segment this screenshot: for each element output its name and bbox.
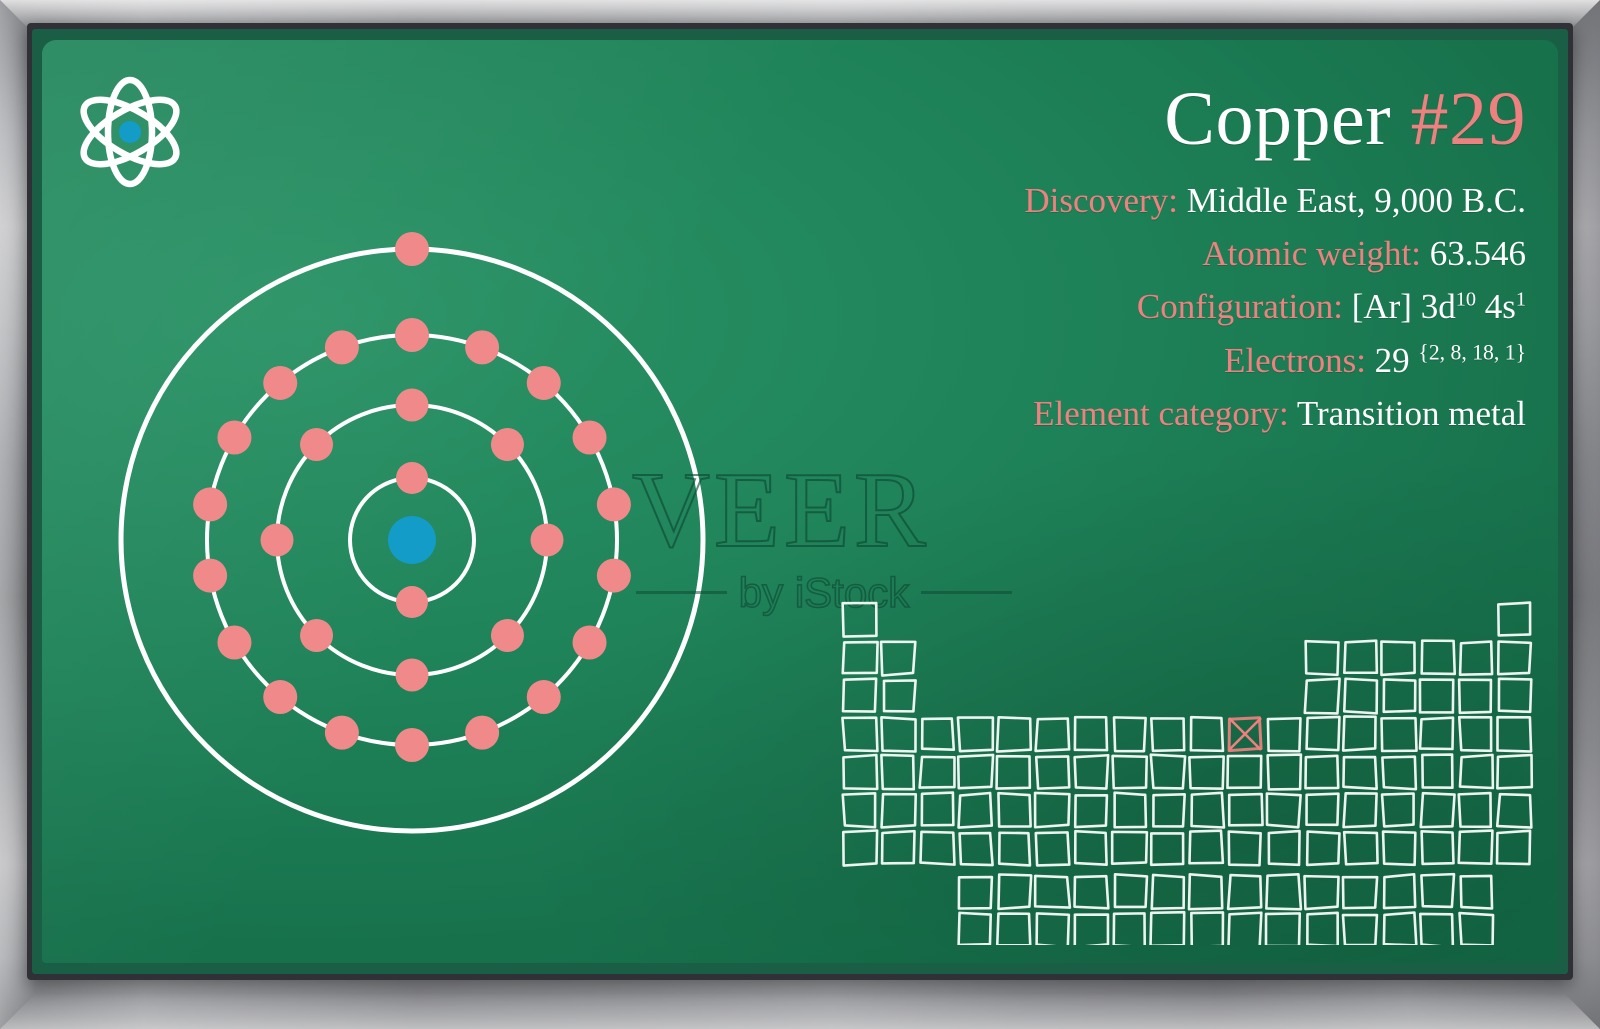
electron-shell3-12 [263, 680, 297, 714]
periodic-cell [1269, 831, 1300, 865]
periodic-cell [1192, 793, 1224, 828]
periodic-cell [842, 718, 877, 751]
periodic-cell-inner-series [1384, 913, 1416, 945]
electrons-shell-set: {2, 8, 18, 1} [1418, 340, 1526, 364]
periodic-cell-inner-series [1266, 913, 1300, 945]
electron-shell3-13 [217, 626, 251, 660]
periodic-cell-inner-series [997, 914, 1030, 945]
electron-shell2-8 [300, 428, 333, 461]
periodic-cell [1459, 793, 1491, 827]
electron-shell2-1 [396, 389, 429, 422]
periodic-cell [1151, 755, 1185, 789]
periodic-cell-inner-series [959, 877, 992, 908]
periodic-cell [1113, 756, 1147, 788]
periodic-cell [1151, 833, 1183, 864]
periodic-cell [1115, 793, 1146, 828]
periodic-cell [958, 755, 993, 788]
periodic-cell [1307, 832, 1339, 865]
electron-shell3-11 [325, 716, 359, 750]
periodic-cell [1268, 755, 1301, 790]
atomic-weight-value: 63.546 [1430, 234, 1526, 273]
periodic-cell [1305, 756, 1338, 788]
periodic-cell [1075, 755, 1109, 788]
periodic-cell [1075, 795, 1107, 827]
periodic-cell [1344, 793, 1377, 827]
periodic-cell [1112, 832, 1147, 864]
discovery-value: Middle East, 9,000 B.C. [1187, 181, 1526, 220]
periodic-cell [1267, 794, 1301, 828]
category-value: Transition metal [1297, 394, 1526, 433]
periodic-cell [1383, 832, 1415, 865]
periodic-cell [958, 718, 993, 752]
periodic-cell [1307, 717, 1340, 750]
electron-shell3-1 [395, 318, 429, 352]
info-row-discovery: Discovery: Middle East, 9,000 B.C. [786, 174, 1526, 227]
electron-shell2-6 [300, 619, 333, 652]
periodic-cell [1344, 679, 1377, 714]
periodic-cell [1344, 641, 1377, 673]
periodic-cell [1189, 757, 1223, 789]
periodic-cell [1459, 717, 1491, 751]
element-name: Copper [1164, 77, 1391, 161]
atom-nucleus [388, 516, 436, 564]
electron-dots [193, 232, 631, 762]
periodic-cell [998, 793, 1030, 826]
configuration-label: Configuration: [1137, 287, 1343, 326]
category-label: Element category: [1033, 394, 1289, 433]
periodic-cell [1227, 756, 1261, 788]
info-row-category: Element category: Transition metal [786, 387, 1526, 440]
periodic-cell [1382, 793, 1414, 826]
periodic-cell [1036, 718, 1070, 750]
periodic-cell-inner-series [1266, 874, 1301, 909]
infographic-canvas: VEER by iStock Copper #29 Discovery: Mid… [0, 0, 1600, 1029]
periodic-cell-inner-series [1421, 874, 1454, 907]
periodic-cell [881, 755, 913, 789]
page-title: Copper #29 [786, 78, 1526, 160]
periodic-cell [1343, 757, 1376, 789]
periodic-cell [1035, 793, 1069, 827]
periodic-cell-inner-series [1152, 875, 1184, 909]
periodic-cell [1460, 642, 1492, 675]
watermark-rule-right [921, 591, 1012, 594]
periodic-cell [1499, 679, 1531, 712]
electron-shell3-14 [193, 559, 227, 593]
periodic-cell [1307, 794, 1339, 825]
periodic-cell [1381, 642, 1414, 675]
periodic-cell [1420, 718, 1453, 749]
periodic-cell [1191, 717, 1223, 751]
periodic-cell-inner-series [1037, 913, 1069, 945]
periodic-cell [843, 603, 877, 637]
periodic-cell-inner-series [1384, 874, 1415, 908]
periodic-cell-inner-series [1307, 913, 1337, 945]
electron-shell3-15 [193, 487, 227, 521]
periodic-cell [1075, 831, 1106, 865]
periodic-cell [1382, 757, 1416, 790]
electron-shell3-18 [325, 330, 359, 364]
periodic-cell [843, 793, 875, 827]
periodic-table-minimap [840, 600, 1552, 945]
periodic-cell-inner-series [1420, 914, 1453, 945]
electron-shell2-4 [491, 619, 524, 652]
electron-shell4-1 [395, 232, 429, 266]
periodic-cell [1036, 756, 1069, 788]
configuration-sup-2: 1 [1516, 289, 1526, 311]
periodic-cell [881, 717, 915, 751]
electron-shell3-5 [597, 487, 631, 521]
periodic-cell [843, 831, 877, 866]
periodic-cell [1384, 679, 1416, 711]
electrons-label: Electrons: [1224, 341, 1366, 380]
bohr-model-diagram [102, 230, 722, 850]
electron-shell1-1 [396, 462, 428, 494]
periodic-cell-inner-series [1075, 876, 1109, 908]
atomic-weight-label: Atomic weight: [1202, 234, 1421, 273]
element-info-panel: Copper #29 Discovery: Middle East, 9,000… [786, 78, 1526, 440]
periodic-cell-inner-series [1114, 913, 1145, 945]
periodic-cell [1344, 832, 1377, 864]
periodic-cell [921, 832, 955, 865]
atom-icon [70, 72, 190, 192]
periodic-cell [1229, 794, 1262, 825]
electron-shell2-7 [261, 524, 294, 557]
periodic-cell-inner-series [1151, 912, 1185, 945]
periodic-cell-inner-series [1035, 876, 1070, 908]
periodic-cell [881, 642, 915, 676]
periodic-cell [1422, 641, 1455, 674]
electron-shell3-2 [465, 330, 499, 364]
electron-shell3-3 [527, 366, 561, 400]
periodic-cell [1114, 717, 1146, 751]
periodic-cell [1189, 831, 1222, 864]
electron-shell3-7 [573, 626, 607, 660]
periodic-cell [1459, 680, 1491, 713]
configuration-value-base: [Ar] 3d [1352, 287, 1456, 326]
periodic-cell [922, 719, 954, 750]
periodic-cell [922, 793, 954, 826]
periodic-cell-inner-series [959, 913, 991, 945]
periodic-cell-inner-series [1343, 877, 1377, 908]
electron-shell3-4 [573, 421, 607, 455]
electron-shell1-2 [396, 586, 428, 618]
periodic-cell [999, 833, 1030, 866]
periodic-cell [1036, 832, 1070, 865]
electron-shell2-5 [396, 659, 429, 692]
periodic-cell-inner-series [1115, 874, 1147, 907]
periodic-cell [1497, 755, 1531, 788]
configuration-value-mid: 4s [1476, 287, 1516, 326]
periodic-cell-inner-series [1304, 876, 1338, 909]
periodic-cell [1422, 755, 1452, 788]
info-row-configuration: Configuration: [Ar] 3d10 4s1 [786, 280, 1526, 333]
periodic-cell [1151, 718, 1184, 750]
discovery-label: Discovery: [1024, 181, 1178, 220]
periodic-cell [843, 679, 876, 712]
periodic-table-cells [842, 603, 1531, 945]
periodic-cell-highlight-cross [1229, 718, 1261, 750]
atom-icon-nucleus [119, 121, 141, 143]
info-row-atomic-weight: Atomic weight: 63.546 [786, 227, 1526, 280]
periodic-cell-inner-series [1461, 876, 1492, 909]
periodic-cell [1382, 718, 1417, 751]
periodic-cell-inner-series [1191, 912, 1223, 945]
chalkboard: VEER by iStock Copper #29 Discovery: Mid… [42, 40, 1558, 963]
electron-shell3-9 [465, 716, 499, 750]
periodic-cell [1460, 755, 1493, 788]
periodic-cell [997, 756, 1030, 788]
electron-shell3-16 [217, 421, 251, 455]
periodic-cell [1497, 717, 1531, 751]
periodic-cell [1153, 794, 1184, 826]
electron-shell2-2 [491, 428, 524, 461]
periodic-cell-inner-series [1228, 913, 1261, 945]
electron-shell3-10 [395, 728, 429, 762]
periodic-cell [843, 642, 878, 673]
periodic-cell [1343, 716, 1375, 750]
electrons-value: 29 [1375, 341, 1410, 380]
periodic-cell [1498, 603, 1530, 636]
electron-shell3-8 [527, 680, 561, 714]
periodic-cell [843, 755, 877, 789]
periodic-cell [1268, 718, 1301, 751]
periodic-cell [1459, 831, 1493, 864]
periodic-cell [960, 833, 993, 865]
periodic-cell [1422, 831, 1454, 864]
periodic-cell-inner-series [998, 874, 1031, 908]
electron-shell3-17 [263, 366, 297, 400]
periodic-cell [1497, 794, 1531, 827]
periodic-cell [997, 717, 1031, 751]
electron-shell3-6 [597, 559, 631, 593]
periodic-cell-inner-series [1460, 913, 1494, 945]
periodic-cell [882, 794, 916, 827]
periodic-cell [1229, 832, 1261, 866]
atomic-number: #29 [1411, 77, 1527, 161]
periodic-cell [884, 680, 916, 711]
periodic-cell [1305, 679, 1340, 714]
configuration-sup-1: 10 [1456, 289, 1476, 311]
periodic-cell [1306, 641, 1339, 675]
info-row-electrons: Electrons: 29 {2, 8, 18, 1} [786, 334, 1526, 387]
periodic-cell [920, 757, 955, 788]
periodic-cell [1498, 642, 1531, 675]
periodic-cell-inner-series [1343, 915, 1377, 945]
electron-shell2-3 [531, 524, 564, 557]
periodic-cell [1421, 793, 1455, 827]
periodic-cell [959, 793, 992, 828]
periodic-cell [1420, 680, 1453, 713]
periodic-cell-inner-series [1189, 874, 1222, 909]
periodic-cell-inner-series [1228, 875, 1261, 909]
periodic-cell-inner-series [1075, 915, 1108, 945]
periodic-cell [882, 831, 914, 863]
periodic-cell [1075, 717, 1107, 750]
periodic-cell [1497, 831, 1530, 864]
